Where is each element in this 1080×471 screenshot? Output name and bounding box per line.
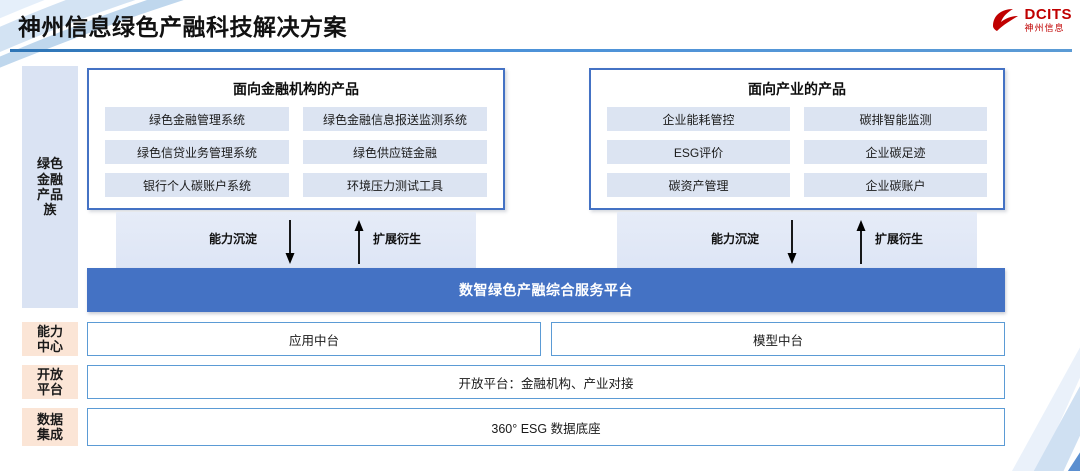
layer-row-ability-center: 应用中台 模型中台 <box>87 322 1005 356</box>
product-item[interactable]: 碳资产管理 <box>607 173 790 197</box>
rail-label-data-integration: 数据集成 <box>22 408 78 446</box>
product-item[interactable]: 绿色金融信息报送监测系统 <box>303 107 487 131</box>
logo-text-en: DCITS <box>1025 7 1073 22</box>
layer-box-model-middle-platform[interactable]: 模型中台 <box>551 322 1005 356</box>
flow-label-expansion-derivative: 扩展衍生 <box>875 230 923 247</box>
rail-ability-text: 能力中心 <box>37 324 63 355</box>
layer-box-application-middle-platform[interactable]: 应用中台 <box>87 322 541 356</box>
logo-text-cn: 神州信息 <box>1025 24 1073 33</box>
slide-header: 神州信息绿色产融科技解决方案 DCITS 神州信息 <box>0 0 1080 52</box>
layer-box-esg-data-foundation[interactable]: 360° ESG 数据底座 <box>87 408 1005 446</box>
product-grid: 企业能耗管控 碳排智能监测 ESG评价 企业碳足迹 碳资产管理 企业碳账户 <box>591 107 1003 197</box>
slide-canvas: 神州信息绿色产融科技解决方案 DCITS 神州信息 绿色金融产品族 能力中心 开… <box>0 0 1080 471</box>
flow-label-capability-precipitation: 能力沉淀 <box>209 230 257 247</box>
product-item[interactable]: 企业碳账户 <box>804 173 987 197</box>
product-item[interactable]: 绿色信贷业务管理系统 <box>105 140 289 164</box>
layer-row-open-platform: 开放平台：金融机构、产业对接 <box>87 365 1005 399</box>
flow-label-expansion-derivative: 扩展衍生 <box>373 230 421 247</box>
panel-title: 面向产业的产品 <box>591 79 1003 99</box>
rail-products-text: 绿色金融产品族 <box>37 156 63 217</box>
rail-label-open-platform: 开放平台 <box>22 365 78 399</box>
flow-arrows-right: 能力沉淀 扩展衍生 <box>589 212 1005 270</box>
brand-logo: DCITS 神州信息 <box>990 7 1073 33</box>
rail-open-text: 开放平台 <box>37 367 63 398</box>
flow-label-capability-precipitation: 能力沉淀 <box>711 230 759 247</box>
product-item[interactable]: 银行个人碳账户系统 <box>105 173 289 197</box>
page-title: 神州信息绿色产融科技解决方案 <box>18 8 347 42</box>
rail-label-ability-center: 能力中心 <box>22 322 78 356</box>
product-panel-financial-institutions: 面向金融机构的产品 绿色金融管理系统 绿色金融信息报送监测系统 绿色信贷业务管理… <box>87 68 505 210</box>
product-panel-industry: 面向产业的产品 企业能耗管控 碳排智能监测 ESG评价 企业碳足迹 碳资产管理 … <box>589 68 1005 210</box>
product-item[interactable]: 企业碳足迹 <box>804 140 987 164</box>
layer-box-open-platform[interactable]: 开放平台：金融机构、产业对接 <box>87 365 1005 399</box>
panel-title: 面向金融机构的产品 <box>89 79 503 99</box>
product-item[interactable]: ESG评价 <box>607 140 790 164</box>
product-item[interactable]: 绿色供应链金融 <box>303 140 487 164</box>
flow-arrows-left: 能力沉淀 扩展衍生 <box>87 212 505 270</box>
platform-bar[interactable]: 数智绿色产融综合服务平台 <box>87 268 1005 312</box>
dcits-swoosh-icon <box>990 7 1020 33</box>
layer-row-data-integration: 360° ESG 数据底座 <box>87 408 1005 446</box>
product-item[interactable]: 环境压力测试工具 <box>303 173 487 197</box>
platform-label: 数智绿色产融综合服务平台 <box>459 280 633 300</box>
product-item[interactable]: 碳排智能监测 <box>804 107 987 131</box>
product-item[interactable]: 绿色金融管理系统 <box>105 107 289 131</box>
product-item[interactable]: 企业能耗管控 <box>607 107 790 131</box>
rail-data-text: 数据集成 <box>37 412 63 443</box>
product-grid: 绿色金融管理系统 绿色金融信息报送监测系统 绿色信贷业务管理系统 绿色供应链金融… <box>89 107 503 197</box>
header-divider <box>10 49 1072 52</box>
rail-label-green-finance-products: 绿色金融产品族 <box>22 66 78 308</box>
